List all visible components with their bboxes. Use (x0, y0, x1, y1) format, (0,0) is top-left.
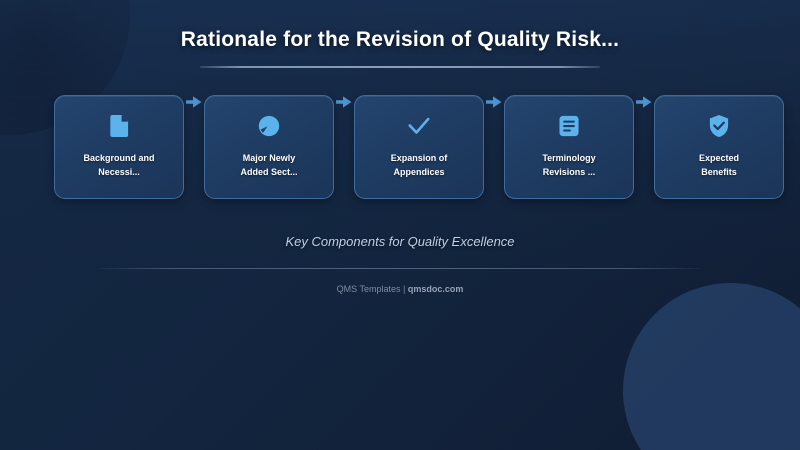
checkmark-icon (406, 113, 432, 139)
title-divider (200, 66, 600, 68)
arrow-right-icon (634, 95, 654, 109)
step-card-expansion-of-appendices[interactable]: Expansion of Appendices (354, 95, 484, 199)
step-label-line-1: Major Newly (213, 151, 325, 165)
step-card-label: Expansion of Appendices (363, 151, 475, 179)
shield-check-icon (706, 113, 732, 139)
flow-step-1: Background and Necessi... (54, 95, 184, 199)
article-lines-icon (556, 113, 582, 139)
flow-connector-3 (484, 95, 504, 109)
page-title: Rationale for the Revision of Quality Ri… (0, 28, 800, 52)
slide-header: Rationale for the Revision of Quality Ri… (0, 28, 800, 68)
arrow-right-icon (184, 95, 204, 109)
footer-divider (100, 268, 700, 269)
slide-footer: QMS Templates | qmsdoc.com (0, 284, 800, 294)
arrow-right-icon (334, 95, 354, 109)
step-label-line-2: Necessi... (63, 165, 175, 179)
arrow-right-icon (484, 95, 504, 109)
step-label-line-2: Appendices (363, 165, 475, 179)
process-flow: Background and Necessi... Major Newl (54, 95, 746, 199)
step-label-line-2: Revisions ... (513, 165, 625, 179)
step-card-terminology-revisions[interactable]: Terminology Revisions ... (504, 95, 634, 199)
footer-brand: qmsdoc.com (408, 284, 464, 294)
step-card-expected-benefits[interactable]: Expected Benefits (654, 95, 784, 199)
flow-step-4: Terminology Revisions ... (504, 95, 634, 199)
flow-step-5: Expected Benefits (654, 95, 784, 199)
slide-subtitle: Key Components for Quality Excellence (0, 234, 800, 249)
flow-step-2: Major Newly Added Sect... (204, 95, 334, 199)
footer-source: QMS Templates (337, 284, 401, 294)
slide-canvas: Rationale for the Revision of Quality Ri… (0, 0, 800, 450)
flow-connector-2 (334, 95, 354, 109)
step-label-line-1: Terminology (513, 151, 625, 165)
flow-connector-1 (184, 95, 204, 109)
flow-step-3: Expansion of Appendices (354, 95, 484, 199)
step-label-line-2: Benefits (663, 165, 775, 179)
step-card-background-necessity[interactable]: Background and Necessi... (54, 95, 184, 199)
step-card-label: Background and Necessi... (63, 151, 175, 179)
step-label-line-2: Added Sect... (213, 165, 325, 179)
step-card-label: Major Newly Added Sect... (213, 151, 325, 179)
file-document-icon (106, 113, 132, 139)
pie-chart-icon (256, 113, 282, 139)
step-card-label: Terminology Revisions ... (513, 151, 625, 179)
decorative-circle-bottom-right (623, 283, 800, 450)
flow-connector-4 (634, 95, 654, 109)
step-label-line-1: Expansion of (363, 151, 475, 165)
step-label-line-1: Background and (63, 151, 175, 165)
step-card-major-newly-added-sections[interactable]: Major Newly Added Sect... (204, 95, 334, 199)
footer-separator: | (403, 284, 405, 294)
step-card-label: Expected Benefits (663, 151, 775, 179)
step-label-line-1: Expected (663, 151, 775, 165)
